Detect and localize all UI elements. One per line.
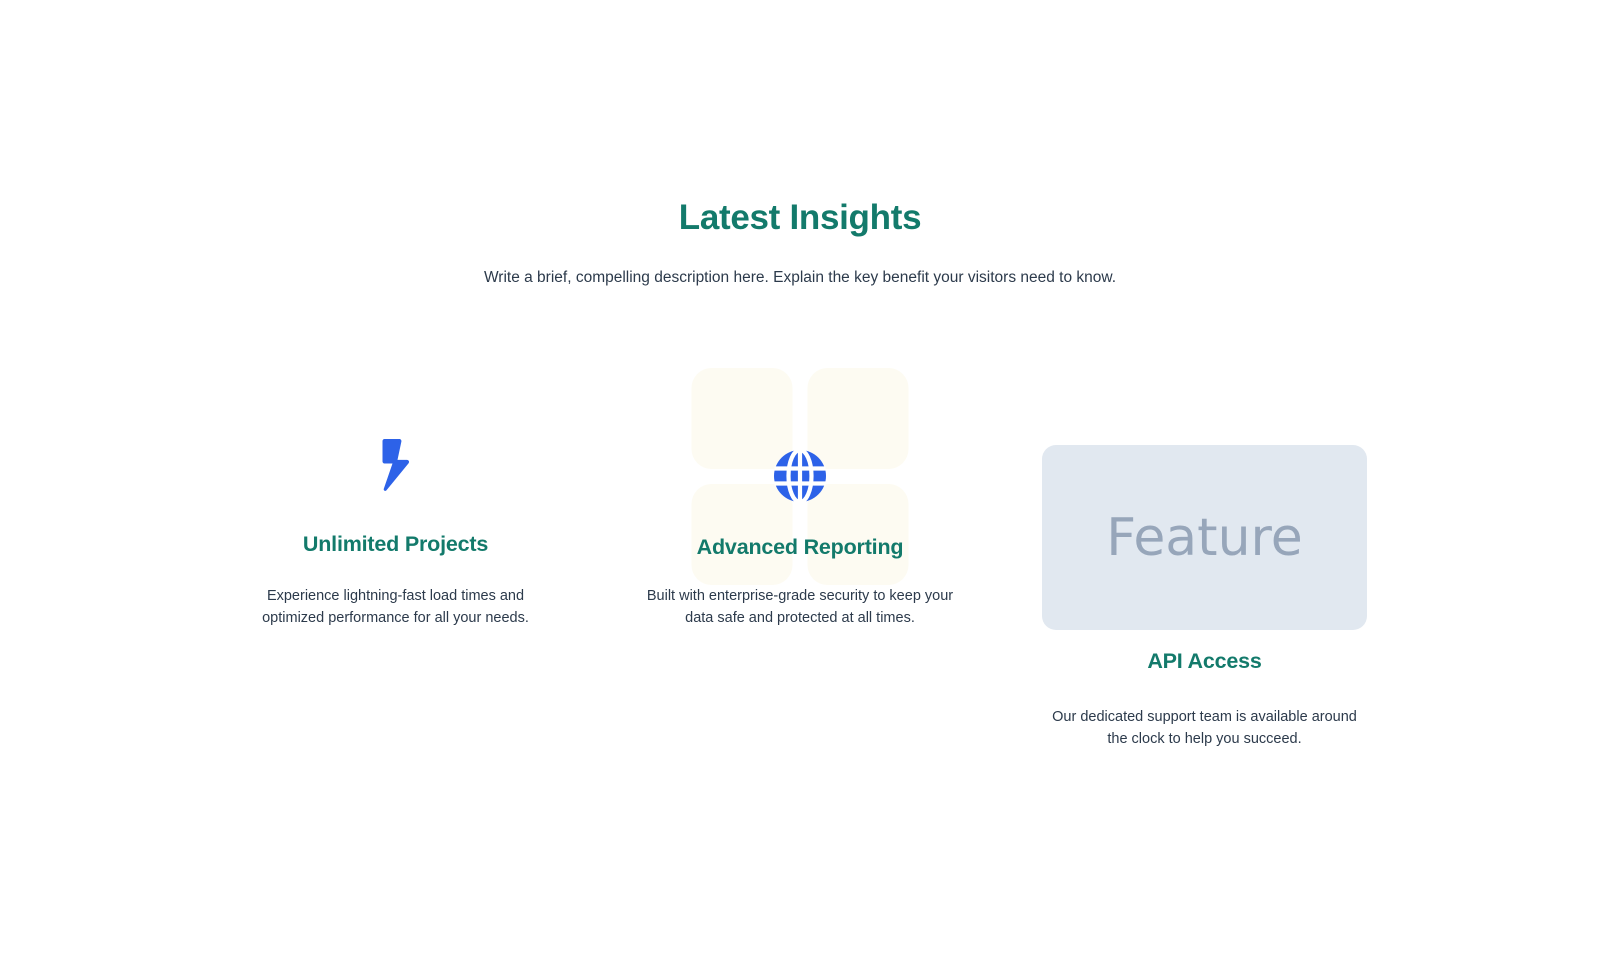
- feature-image-placeholder: Feature: [1042, 445, 1367, 630]
- feature-title: API Access: [1147, 647, 1261, 675]
- feature-card-api-access: Feature API Access Our dedicated support…: [1042, 355, 1367, 750]
- feature-description: Experience lightning-fast load times and…: [251, 585, 541, 629]
- feature-grid: Unlimited Projects Experience lightning-…: [233, 355, 1367, 775]
- feature-description: Built with enterprise-grade security to …: [638, 585, 963, 629]
- placeholder-label: Feature: [1106, 508, 1303, 568]
- feature-description: Our dedicated support team is available …: [1042, 706, 1367, 750]
- latest-insights-section: Latest Insights Write a brief, compellin…: [0, 0, 1600, 978]
- feature-title: Unlimited Projects: [303, 530, 488, 558]
- feature-card-unlimited-projects: Unlimited Projects Experience lightning-…: [233, 355, 558, 629]
- globe-icon: [772, 448, 828, 504]
- page-title: Latest Insights: [0, 196, 1600, 240]
- section-subtitle: Write a brief, compelling description he…: [0, 267, 1600, 289]
- feature-title: Advanced Reporting: [697, 533, 904, 561]
- lightning-bolt-icon: [373, 438, 419, 494]
- feature-card-advanced-reporting: Advanced Reporting Built with enterprise…: [638, 355, 963, 629]
